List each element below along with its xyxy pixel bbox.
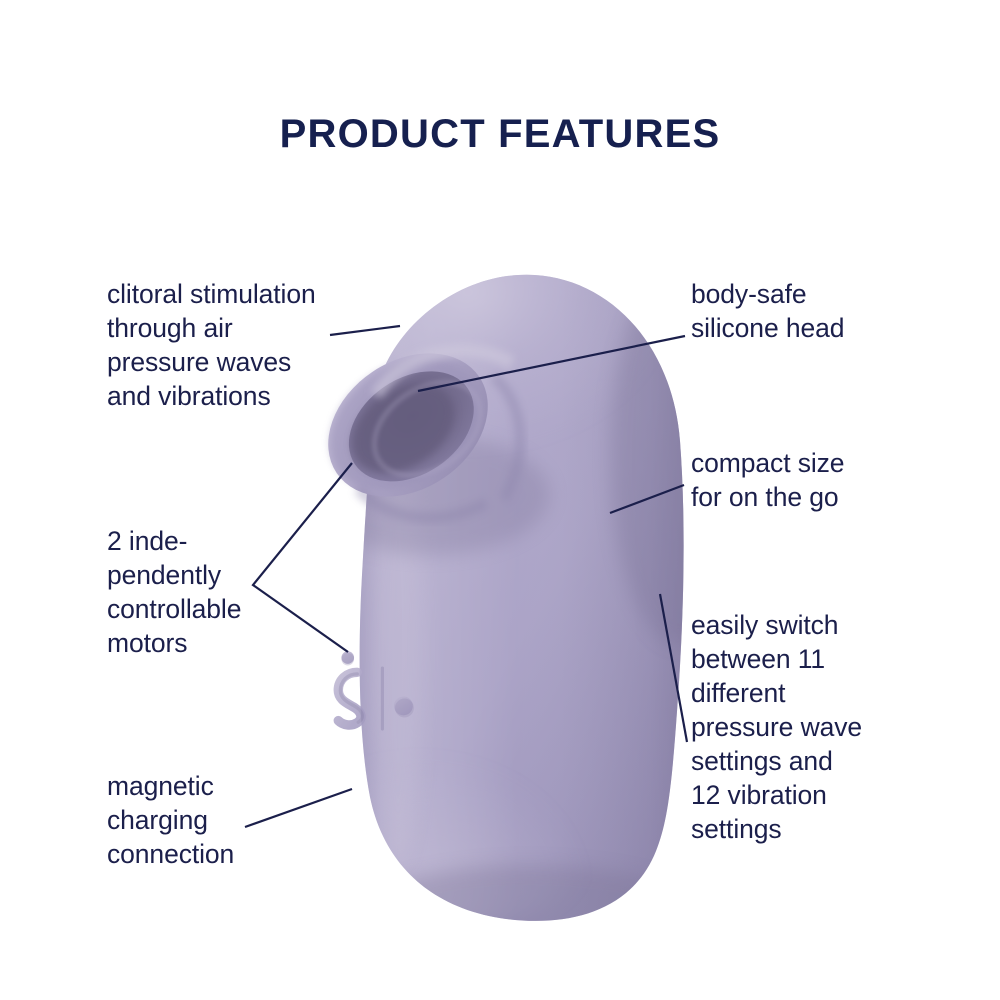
callout-clitoral-stimulation: clitoral stimulation through air pressur…	[107, 277, 407, 413]
callout-body-safe-silicone-head: body-safe silicone head	[691, 277, 971, 345]
callout-magnetic-charging: magnetic charging connection	[107, 769, 357, 871]
callout-independent-motors: 2 inde- pendently controllable motors	[107, 524, 357, 660]
callout-compact-size: compact size for on the go	[691, 446, 971, 514]
product-features-page: PRODUCT FEATURES	[0, 0, 1000, 1000]
page-title: PRODUCT FEATURES	[0, 112, 1000, 157]
callout-pressure-and-vibration-settings: easily switch between 11 different press…	[691, 608, 981, 846]
